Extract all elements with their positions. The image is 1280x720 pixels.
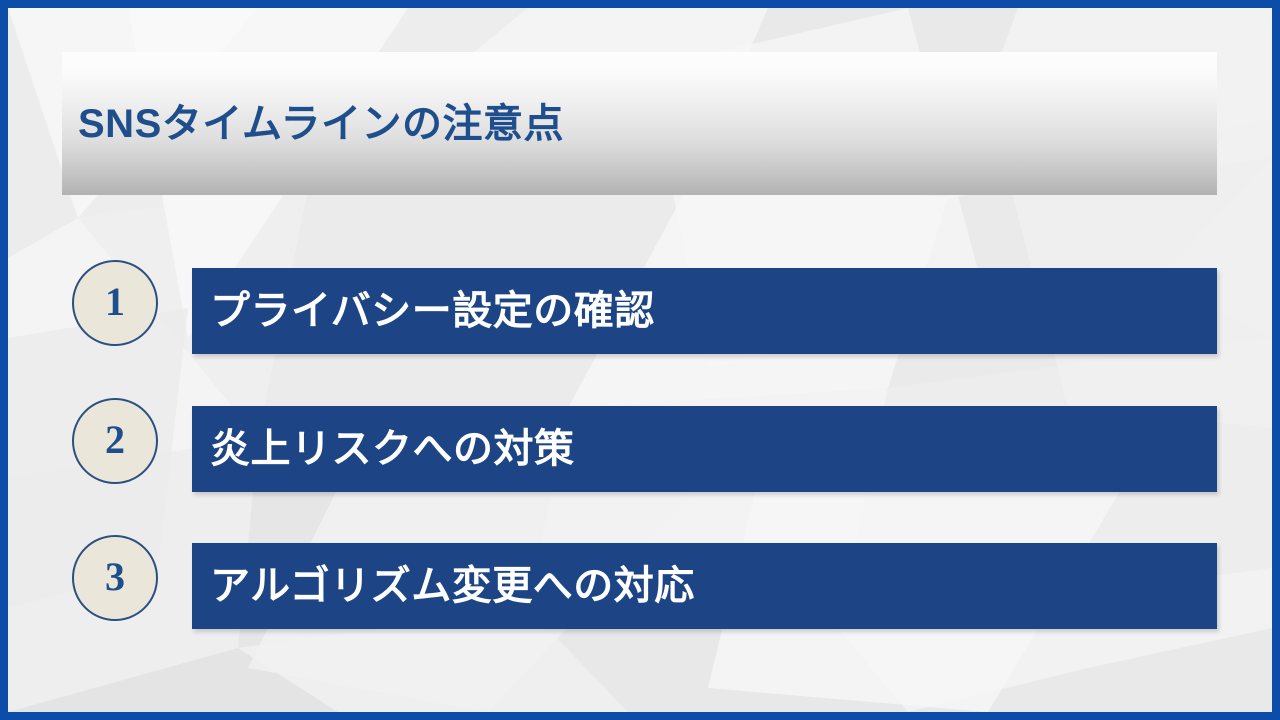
step-number-badge: 3 [72, 535, 158, 621]
list-item: 3 アルゴリズム変更への対応 [8, 535, 1272, 621]
slide-content-area: SNSタイムラインの注意点 1 プライバシー設定の確認 2 炎上リスクへの対策 … [8, 8, 1272, 712]
step-number-label: 1 [105, 282, 125, 322]
step-number-badge: 2 [72, 398, 158, 484]
title-banner: SNSタイムラインの注意点 [62, 52, 1217, 195]
step-bar[interactable]: アルゴリズム変更への対応 [192, 543, 1217, 629]
slide: SNSタイムラインの注意点 1 プライバシー設定の確認 2 炎上リスクへの対策 … [0, 0, 1280, 720]
step-bar-label: アルゴリズム変更への対応 [210, 564, 695, 608]
step-number-label: 2 [105, 420, 125, 460]
step-bar-label: プライバシー設定の確認 [210, 289, 655, 333]
list-item: 1 プライバシー設定の確認 [8, 260, 1272, 346]
step-number-badge: 1 [72, 260, 158, 346]
list-item: 2 炎上リスクへの対策 [8, 398, 1272, 484]
step-number-label: 3 [105, 557, 125, 597]
page-title: SNSタイムラインの注意点 [78, 102, 564, 146]
step-bar[interactable]: 炎上リスクへの対策 [192, 406, 1217, 492]
step-bar[interactable]: プライバシー設定の確認 [192, 268, 1217, 354]
step-bar-label: 炎上リスクへの対策 [210, 427, 575, 471]
